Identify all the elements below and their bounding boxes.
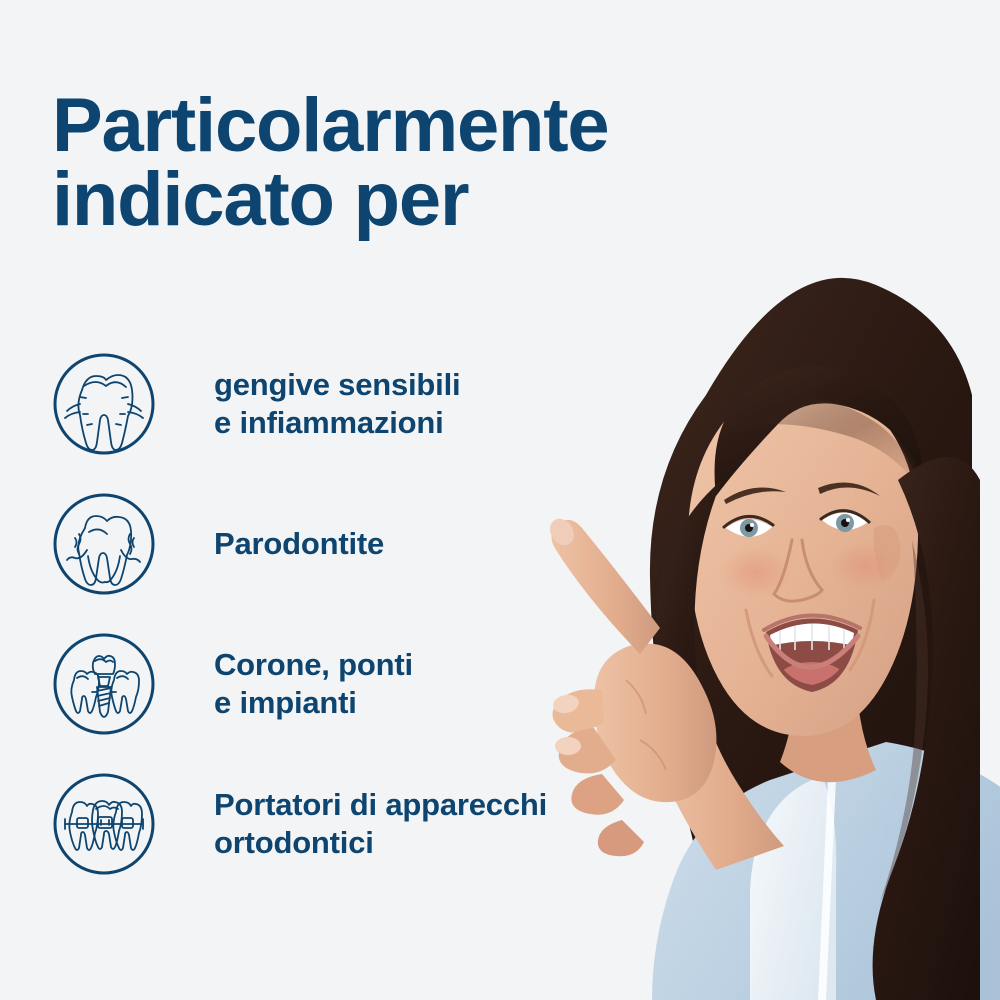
cheek-right (830, 542, 898, 590)
list-item: Portatori di apparecchi ortodontici (52, 768, 712, 880)
list-item: Corone, ponti e impianti (52, 628, 712, 740)
tooth-sensitive-gums-icon (52, 352, 156, 456)
promo-banner: Particolarmente indicato per (0, 0, 1000, 1000)
dental-implant-crown-icon (52, 632, 156, 736)
list-item: gengive sensibili e infiammazioni (52, 348, 712, 460)
list-item-label: gengive sensibili e infiammazioni (214, 366, 460, 442)
list-item: Parodontite (52, 488, 712, 600)
cheek-left (720, 546, 792, 598)
list-item-label: Corone, ponti e impianti (214, 646, 413, 722)
list-item-label: Portatori di apparecchi ortodontici (214, 786, 547, 862)
tooth-receding-gum-icon (52, 492, 156, 596)
list-item-label: Parodontite (214, 525, 384, 563)
page-title: Particolarmente indicato per (52, 89, 872, 238)
feature-list: gengive sensibili e infiammazioni (52, 348, 712, 880)
teeth-braces-icon (52, 772, 156, 876)
